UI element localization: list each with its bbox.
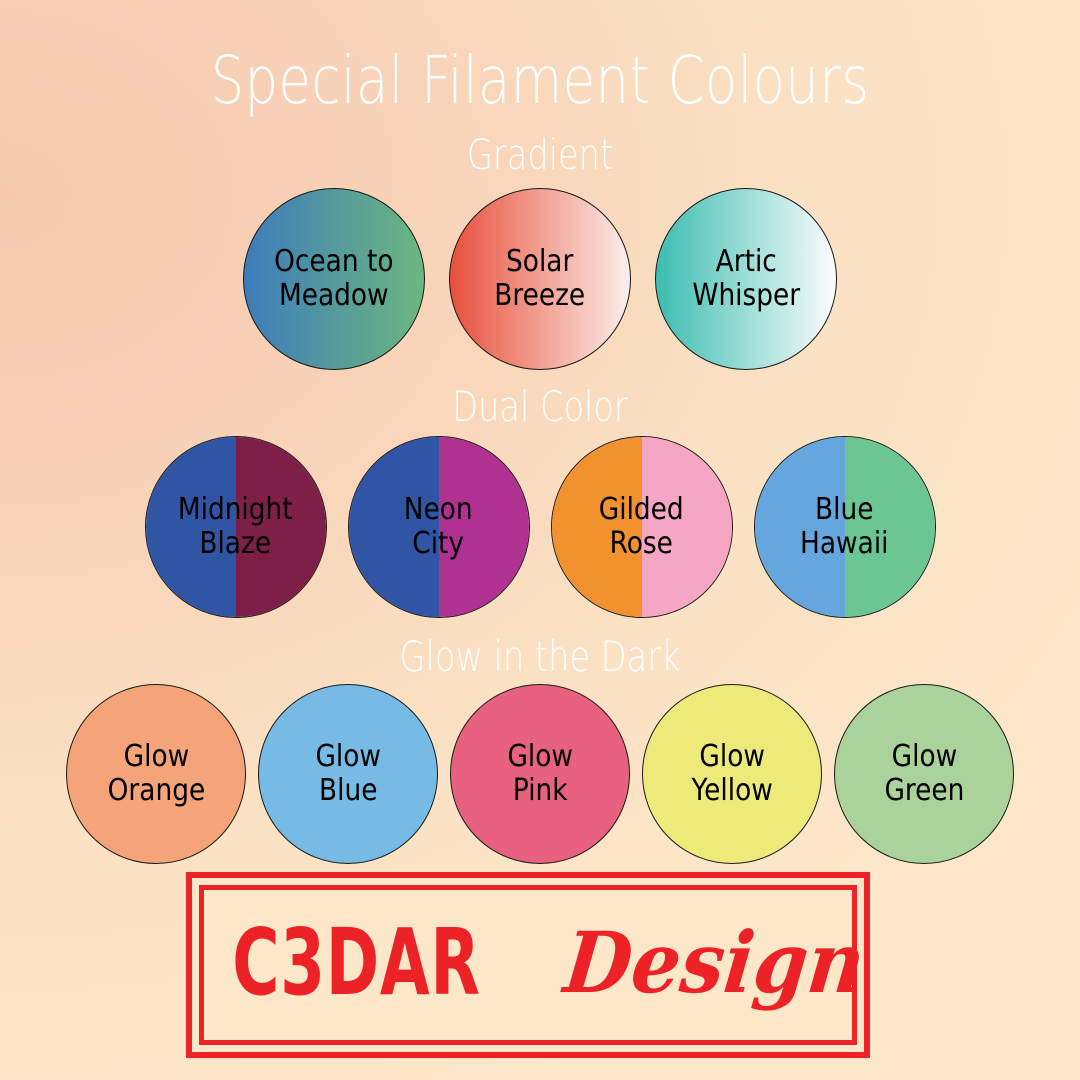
- swatch-glow-blue[interactable]: Glow Blue: [258, 684, 438, 864]
- swatch-label: Ocean to Meadow: [274, 245, 393, 313]
- swatch-blue-hawaii[interactable]: Blue Hawaii: [754, 436, 936, 618]
- swatch-half-left: [755, 437, 845, 617]
- swatch-artic-whisper[interactable]: Artic Whisper: [655, 188, 837, 370]
- swatch-neon-city[interactable]: Neon City: [348, 436, 530, 618]
- swatch-glow-yellow[interactable]: Glow Yellow: [642, 684, 822, 864]
- swatch-half-left: [552, 437, 642, 617]
- brand-logo-frame: C3DAR Design: [199, 885, 857, 1045]
- swatch-gilded-rose[interactable]: Gilded Rose: [551, 436, 733, 618]
- swatch-ocean-to-meadow[interactable]: Ocean to Meadow: [243, 188, 425, 370]
- section-label-glow-in-the-dark: Glow in the Dark: [108, 636, 972, 678]
- swatch-half-left: [146, 437, 236, 617]
- swatch-label: Glow Yellow: [691, 740, 772, 808]
- page-title: Special Filament Colours: [108, 48, 972, 114]
- swatch-label: Artic Whisper: [692, 245, 800, 313]
- swatch-glow-orange[interactable]: Glow Orange: [66, 684, 246, 864]
- swatch-row-glow-in-the-dark: Glow OrangeGlow BlueGlow PinkGlow Yellow…: [0, 684, 1080, 864]
- swatch-row-dual-color: Midnight BlazeNeon CityGilded RoseBlue H…: [0, 436, 1080, 618]
- brand-logo: C3DAR Design: [186, 872, 870, 1058]
- swatch-label: Glow Green: [884, 740, 964, 808]
- section-label-gradient: Gradient: [108, 134, 972, 176]
- swatch-half-left: [349, 437, 439, 617]
- brand-script-text: Design: [560, 921, 868, 1005]
- swatch-half-right: [845, 437, 935, 617]
- swatch-solar-breeze[interactable]: Solar Breeze: [449, 188, 631, 370]
- swatch-half-right: [642, 437, 732, 617]
- section-label-dual-color: Dual Color: [108, 386, 972, 428]
- swatch-label: Solar Breeze: [495, 245, 586, 313]
- swatch-glow-pink[interactable]: Glow Pink: [450, 684, 630, 864]
- swatch-midnight-blaze[interactable]: Midnight Blaze: [145, 436, 327, 618]
- swatch-label: Glow Orange: [107, 740, 205, 808]
- swatch-label: Glow Blue: [315, 740, 381, 808]
- swatch-row-gradient: Ocean to MeadowSolar BreezeArtic Whisper: [0, 188, 1080, 370]
- swatch-half-right: [236, 437, 326, 617]
- swatch-label: Glow Pink: [507, 740, 573, 808]
- brand-wordmark: C3DAR: [232, 917, 480, 1009]
- infographic-canvas: Special Filament Colours Gradient Ocean …: [0, 0, 1080, 1080]
- swatch-half-right: [439, 437, 529, 617]
- swatch-glow-green[interactable]: Glow Green: [834, 684, 1014, 864]
